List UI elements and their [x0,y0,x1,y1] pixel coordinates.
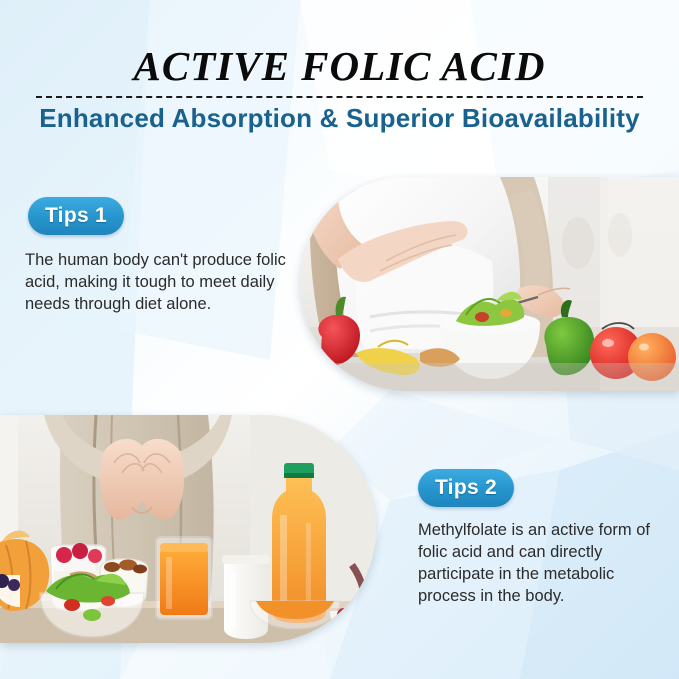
hands-heart-healthy-food-photo [0,415,376,643]
tips-2-text: Methylfolate is an active form of folic … [418,519,670,607]
header: ACTIVE FOLIC ACID Enhanced Absorption & … [0,0,679,150]
poster-root: ACTIVE FOLIC ACID Enhanced Absorption & … [0,0,679,679]
page-subtitle: Enhanced Absorption & Superior Bioavaila… [0,103,679,134]
page-title: ACTIVE FOLIC ACID [0,46,679,87]
tips-2-badge: Tips 2 [418,469,514,507]
tips-1-badge: Tips 1 [28,197,124,235]
tips-1-text: The human body can't produce folic acid,… [25,249,300,315]
pregnant-woman-salad-photo [300,177,679,391]
title-divider [36,96,643,98]
